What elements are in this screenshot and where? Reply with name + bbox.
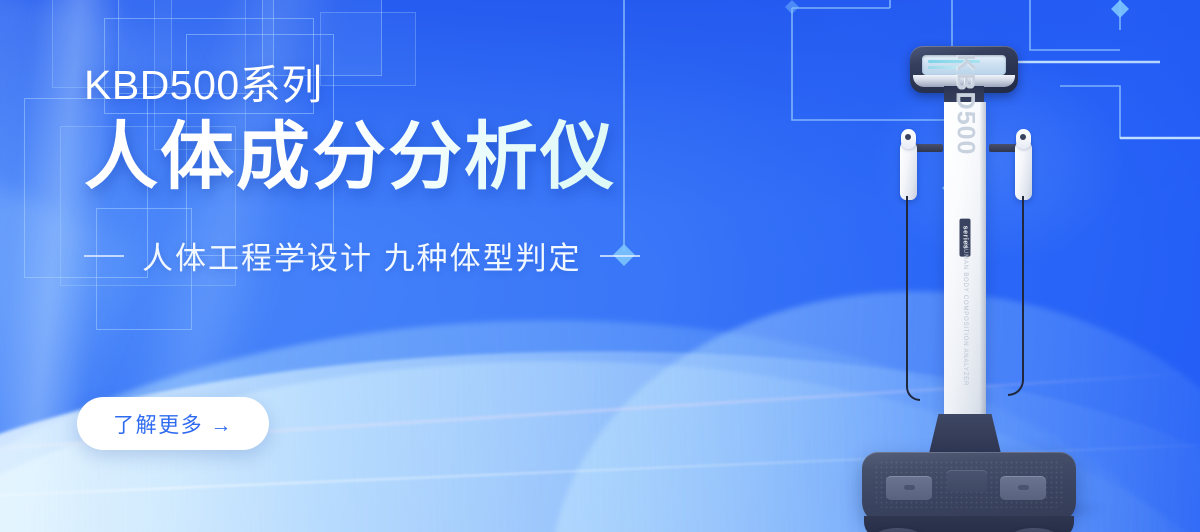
device-foot-electrode-right xyxy=(1000,476,1046,500)
hero-copy-block: KBD500系列 人体成分分析仪 人体工程学设计 九种体型判定 xyxy=(84,64,724,278)
device-handle-right xyxy=(1015,126,1032,200)
device-brand-text: KBD500 xyxy=(951,54,980,156)
learn-more-button[interactable]: 了解更多 → xyxy=(77,397,269,450)
device-cable-right xyxy=(1008,196,1024,396)
learn-more-label: 了解更多 → xyxy=(113,409,233,439)
device-center-plate xyxy=(947,470,987,492)
product-series-eyebrow: KBD500系列 xyxy=(84,64,724,107)
device-subtitle-text: HUMAN BODY COMPOSITION ANALYZER xyxy=(962,244,968,386)
divider-dash-right xyxy=(600,255,640,257)
divider-dash-left xyxy=(84,255,124,257)
hero-subtitle-row: 人体工程学设计 九种体型判定 xyxy=(84,233,724,278)
product-hero-banner: KBD500 series HUMAN BODY COMPOSITION ANA… xyxy=(0,0,1200,532)
device-foot-electrode-left xyxy=(886,476,932,500)
device-cable-left xyxy=(906,196,920,401)
hero-subtitle: 人体工程学设计 九种体型判定 xyxy=(142,233,582,278)
device-handle-left xyxy=(900,126,917,200)
device-illustration: KBD500 series HUMAN BODY COMPOSITION ANA… xyxy=(848,46,1148,532)
page-title: 人体成分分析仪 xyxy=(84,117,724,197)
